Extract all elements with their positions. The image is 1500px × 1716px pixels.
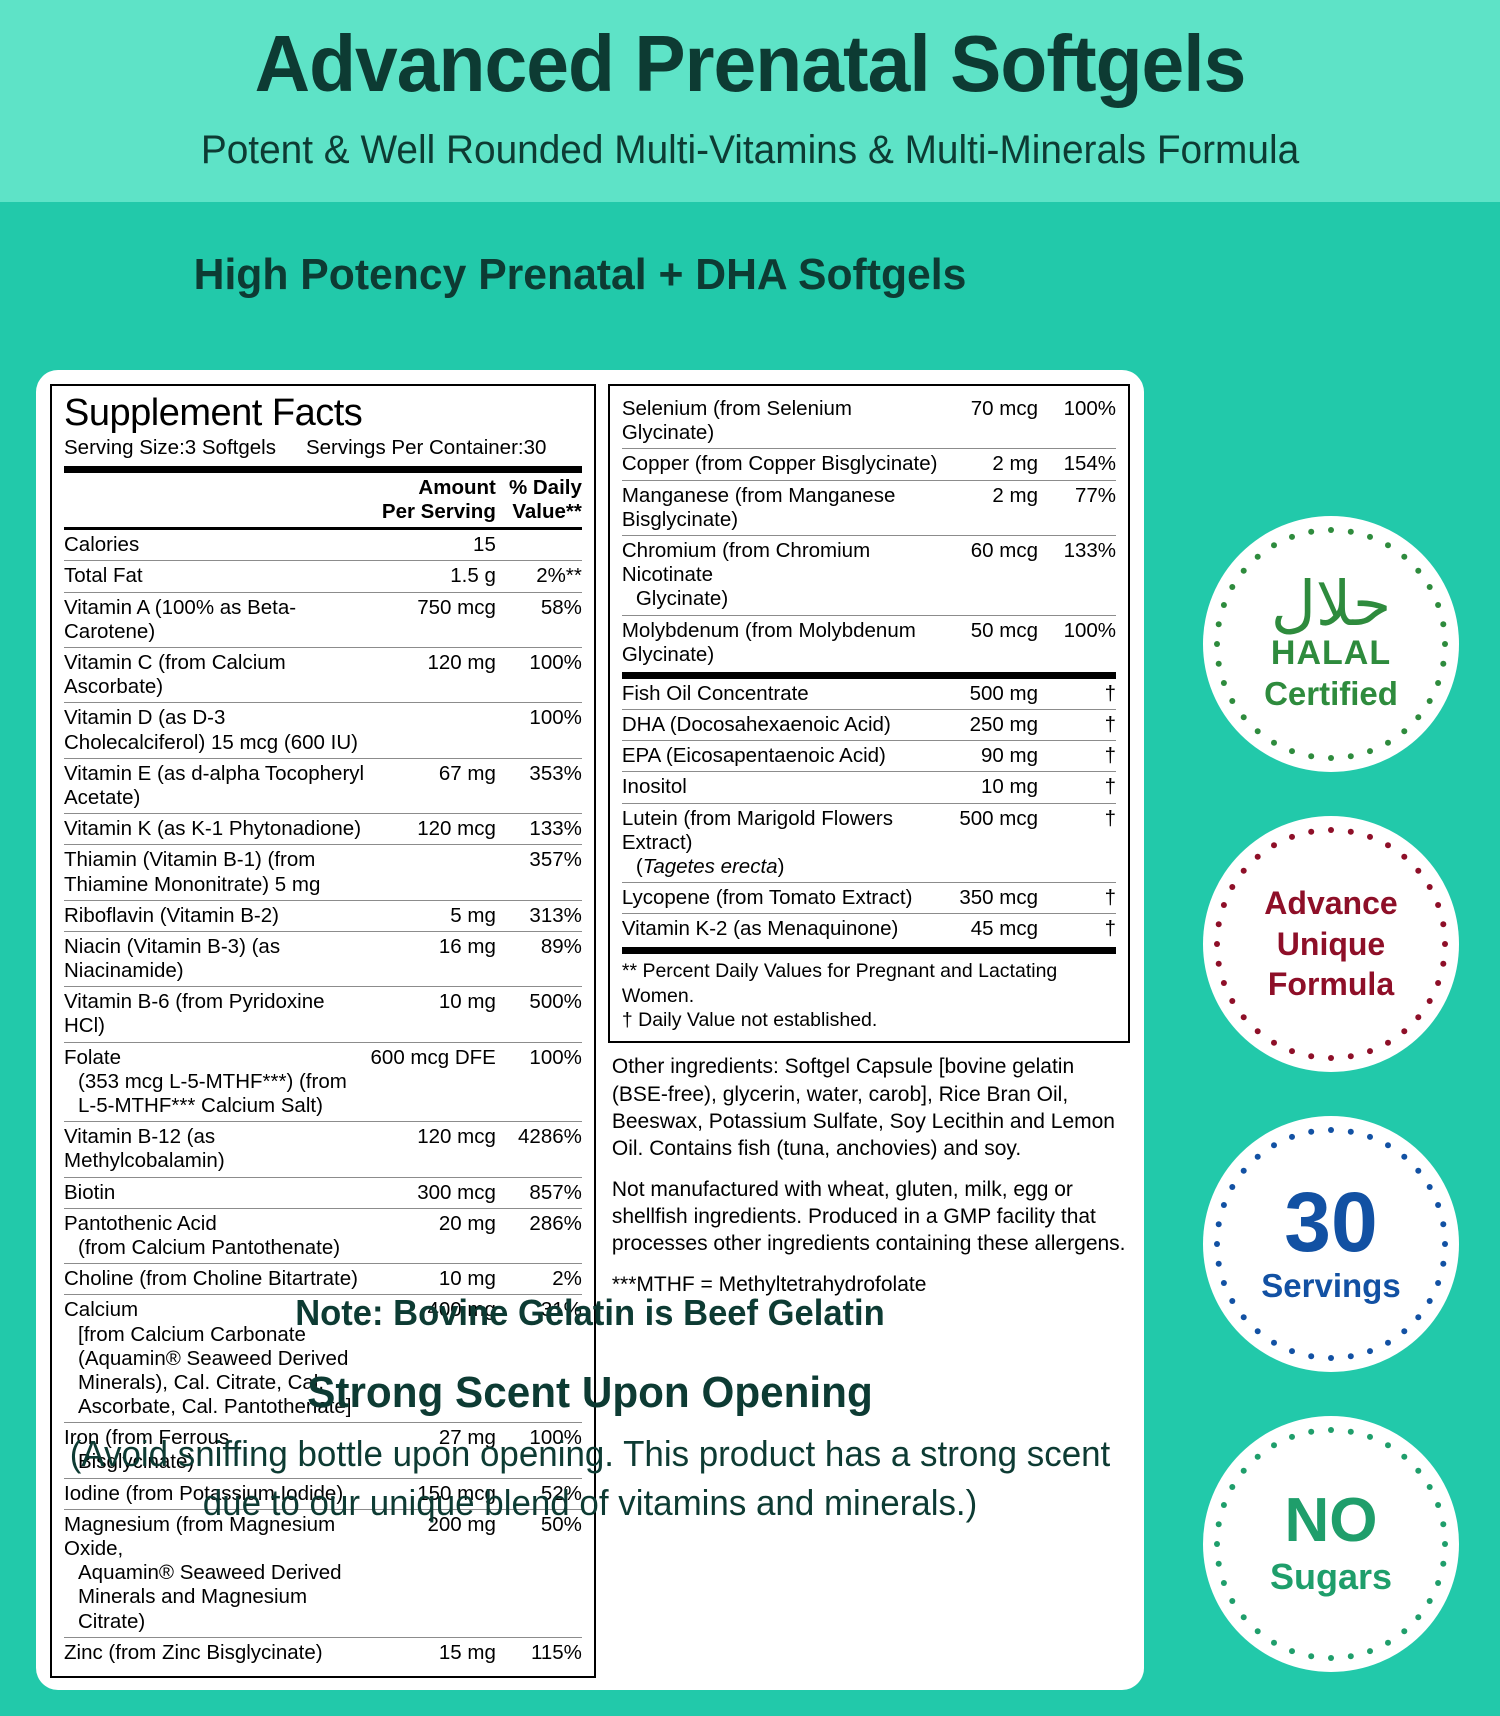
nutrient-name: Total Fat (64, 561, 371, 592)
header-amount-line1: Amount (418, 476, 495, 499)
table-row: Vitamin E (as d-alpha Tocopheryl Acetate… (64, 758, 582, 813)
nutrient-name: Vitamin A (100% as Beta-Carotene) (64, 592, 371, 647)
nutrient-amount: 750 mcg (371, 592, 496, 647)
table-header-row: Amount Per Serving % Daily Value** (64, 473, 582, 527)
nutrient-daily-value: 4286% (496, 1122, 582, 1177)
table-row: Manganese (from Manganese Bisglycinate)2… (622, 480, 1116, 535)
footnote-percent-dv: ** Percent Daily Values for Pregnant and… (622, 959, 1116, 1009)
nutrient-name: Manganese (from Manganese Bisglycinate) (622, 480, 942, 535)
table-row: Vitamin A (100% as Beta-Carotene)750 mcg… (64, 592, 582, 647)
nutrient-daily-value: † (1038, 741, 1116, 772)
other-ingredients-text: Other ingredients: Softgel Capsule [bovi… (612, 1053, 1128, 1162)
nutrient-daily-value: 100% (496, 648, 582, 703)
divider-thick-mid (622, 672, 1116, 679)
nutrient-name: Magnesium (from Magnesium Oxide,Aquamin®… (64, 1509, 371, 1637)
nutrient-amount: 2 mg (942, 480, 1038, 535)
nutrient-daily-value: 100% (496, 1042, 582, 1122)
note-strong-scent-body: (Avoid sniffing bottle upon opening. Thi… (47, 1430, 1133, 1527)
serving-size: Serving Size:3 Softgels (64, 436, 276, 460)
nutrient-name: Choline (from Choline Bitartrate) (64, 1264, 371, 1295)
serving-info: Serving Size:3 Softgels Servings Per Con… (64, 436, 582, 464)
nutrient-amount: 15 mg (371, 1637, 496, 1668)
table-row: Biotin300 mcg857% (64, 1177, 582, 1208)
nutrient-amount: 120 mcg (371, 1122, 496, 1177)
nutrient-amount: 500 mg (942, 679, 1038, 710)
nutrient-daily-value: 154% (1038, 449, 1116, 480)
servings-per-container: Servings Per Container:30 (306, 436, 546, 460)
nutrient-name: Lutein (from Marigold Flowers Extract)(T… (622, 803, 942, 883)
nutrient-daily-value: † (1038, 883, 1116, 914)
nutrient-amount: 15 (371, 530, 496, 561)
nutrient-daily-value: 313% (496, 900, 582, 931)
table-row: Vitamin B-6 (from Pyridoxine HCl)10 mg50… (64, 987, 582, 1042)
table-row: Riboflavin (Vitamin B-2)5 mg313% (64, 900, 582, 931)
left-facts-table: Amount Per Serving % Daily Value** (64, 473, 582, 527)
nutrient-name-cont: (Tagetes erecta) (622, 855, 942, 879)
page-subtitle: Potent & Well Rounded Multi-Vitamins & M… (61, 128, 1438, 172)
badge-halal-certified: حلال HALAL Certified (1203, 516, 1459, 772)
table-row: Vitamin D (as D-3 Cholecalciferol) 15 mc… (64, 703, 582, 758)
header-amount-per-serving: Amount Per Serving (64, 473, 496, 527)
table-row: DHA (Docosahexaenoic Acid)250 mg† (622, 710, 1116, 741)
nutrient-amount: 10 mg (371, 987, 496, 1042)
nutrient-name-cont: (from Calcium Pantothenate) (64, 1236, 371, 1260)
nutrient-amount: 70 mcg (942, 394, 1038, 449)
nutrient-amount: 45 mcg (942, 914, 1038, 945)
nutrient-name: Vitamin D (as D-3 Cholecalciferol) 15 mc… (64, 703, 371, 758)
nutrient-name: Calories (64, 530, 371, 561)
nutrient-name: Copper (from Copper Bisglycinate) (622, 449, 942, 480)
nutrient-amount: 250 mg (942, 710, 1038, 741)
nutrient-name: Pantothenic Acid(from Calcium Pantothena… (64, 1208, 371, 1263)
nutrient-daily-value: 286% (496, 1208, 582, 1263)
minerals-panel: Selenium (from Selenium Glycinate)70 mcg… (608, 384, 1130, 1043)
page-title: Advanced Prenatal Softgels (68, 22, 1431, 106)
note-bovine-gelatin: Note: Bovine Gelatin is Beef Gelatin (52, 1292, 1127, 1334)
nutrient-daily-value: 77% (1038, 480, 1116, 535)
other-ingredients-block: Other ingredients: Softgel Capsule [bovi… (608, 1043, 1130, 1297)
table-row: Calories15 (64, 530, 582, 561)
table-row: Lycopene (from Tomato Extract)350 mcg† (622, 883, 1116, 914)
nutrient-name-cont: Glycinate) (622, 587, 942, 611)
allergen-statement: Not manufactured with wheat, gluten, mil… (612, 1176, 1128, 1258)
table-row: Magnesium (from Magnesium Oxide,Aquamin®… (64, 1509, 582, 1637)
table-row: Thiamin (Vitamin B-1) (from Thiamine Mon… (64, 845, 582, 900)
advance-line1: Advance (1264, 883, 1397, 924)
nutrient-amount: 20 mg (371, 1208, 496, 1263)
nutrient-name: Vitamin K (as K-1 Phytonadione) (64, 814, 371, 845)
right-others-table: Fish Oil Concentrate500 mg†DHA (Docosahe… (622, 679, 1116, 945)
nutrient-name: Zinc (from Zinc Bisglycinate) (64, 1637, 371, 1668)
table-row: Pantothenic Acid(from Calcium Pantothena… (64, 1208, 582, 1263)
table-row: Copper (from Copper Bisglycinate)2 mg154… (622, 449, 1116, 480)
footnotes: ** Percent Daily Values for Pregnant and… (622, 954, 1116, 1034)
header-daily-value: % Daily Value** (496, 473, 582, 527)
nutrient-daily-value: † (1038, 710, 1116, 741)
nutrient-daily-value: 857% (496, 1177, 582, 1208)
footnote-dagger: † Daily Value not established. (622, 1008, 1116, 1033)
nutrient-daily-value: † (1038, 679, 1116, 710)
badge-no-sugars: NO Sugars (1203, 1416, 1459, 1672)
table-row: Total Fat1.5 g2%** (64, 561, 582, 592)
header-amount-line2: Per Serving (382, 500, 496, 523)
nutrient-amount: 350 mcg (942, 883, 1038, 914)
nutrient-name: Selenium (from Selenium Glycinate) (622, 394, 942, 449)
nutrient-amount: 10 mg (371, 1264, 496, 1295)
nutrient-daily-value: 133% (496, 814, 582, 845)
nutrient-name: Chromium (from Chromium NicotinateGlycin… (622, 535, 942, 615)
nutrient-name: Inositol (622, 772, 942, 803)
table-row: EPA (Eicosapentaenoic Acid)90 mg† (622, 741, 1116, 772)
table-row: Niacin (Vitamin B-3) (as Niacinamide)16 … (64, 931, 582, 986)
supplement-facts-title: Supplement Facts (64, 394, 582, 434)
header-dv-line2: Value** (512, 500, 582, 523)
main-content: High Potency Prenatal + DHA Softgels Sup… (0, 202, 1500, 1449)
nutrient-amount: 1.5 g (371, 561, 496, 592)
nutrient-amount: 60 mcg (942, 535, 1038, 615)
nutrient-daily-value: 58% (496, 592, 582, 647)
nutrient-name-cont: (353 mcg L-5-MTHF***) (from L-5-MTHF*** … (64, 1070, 371, 1118)
nutrient-daily-value: 100% (496, 703, 582, 758)
table-row: Vitamin C (from Calcium Ascorbate)120 mg… (64, 648, 582, 703)
nutrient-name: Biotin (64, 1177, 371, 1208)
halal-label-line2: Certified (1264, 675, 1398, 713)
table-row: Vitamin K (as K-1 Phytonadione)120 mcg13… (64, 814, 582, 845)
advance-line2: Unique (1277, 924, 1385, 965)
table-row: Molybdenum (from Molybdenum Glycinate)50… (622, 615, 1116, 670)
no-sugars-line2: Sugars (1270, 1556, 1392, 1598)
note-strong-scent-title: Strong Scent Upon Opening (52, 1368, 1127, 1418)
servings-label: Servings (1261, 1267, 1400, 1305)
badge-advance-unique-formula: Advance Unique Formula (1203, 816, 1459, 1072)
nutrient-name: Thiamin (Vitamin B-1) (from Thiamine Mon… (64, 845, 371, 900)
nutrient-name: Molybdenum (from Molybdenum Glycinate) (622, 615, 942, 670)
nutrient-daily-value: 357% (496, 845, 582, 900)
table-row: Fish Oil Concentrate500 mg† (622, 679, 1116, 710)
nutrient-daily-value: 100% (1038, 615, 1116, 670)
table-row: Zinc (from Zinc Bisglycinate)15 mg115% (64, 1637, 582, 1668)
table-row: Vitamin K-2 (as Menaquinone)45 mcg† (622, 914, 1116, 945)
divider-thick-bottom (622, 947, 1116, 954)
nutrient-name: Vitamin K-2 (as Menaquinone) (622, 914, 942, 945)
nutrient-amount: 90 mg (942, 741, 1038, 772)
nutrient-daily-value: 2% (496, 1264, 582, 1295)
nutrient-daily-value: † (1038, 914, 1116, 945)
nutrient-name: Folate(353 mcg L-5-MTHF***) (from L-5-MT… (64, 1042, 371, 1122)
nutrient-amount (371, 703, 496, 758)
nutrient-name: EPA (Eicosapentaenoic Acid) (622, 741, 942, 772)
nutrient-name: DHA (Docosahexaenoic Acid) (622, 710, 942, 741)
nutrient-amount: 120 mcg (371, 814, 496, 845)
header-band: Advanced Prenatal Softgels Potent & Well… (0, 0, 1500, 202)
nutrient-name: Lycopene (from Tomato Extract) (622, 883, 942, 914)
servings-number: 30 (1284, 1183, 1377, 1263)
nutrient-amount: 10 mg (942, 772, 1038, 803)
nutrient-name: Vitamin C (from Calcium Ascorbate) (64, 648, 371, 703)
nutrient-name: Vitamin B-6 (from Pyridoxine HCl) (64, 987, 371, 1042)
nutrient-amount: 300 mcg (371, 1177, 496, 1208)
nutrient-name: Vitamin B-12 (as Methylcobalamin) (64, 1122, 371, 1177)
nutrient-daily-value: 115% (496, 1637, 582, 1668)
nutrient-amount: 600 mcg DFE (371, 1042, 496, 1122)
nutrient-amount: 67 mg (371, 758, 496, 813)
table-row: Vitamin B-12 (as Methylcobalamin)120 mcg… (64, 1122, 582, 1177)
nutrient-amount: 500 mcg (942, 803, 1038, 883)
halal-arabic-icon: حلال (1271, 575, 1391, 634)
nutrient-daily-value (496, 530, 582, 561)
table-row: Selenium (from Selenium Glycinate)70 mcg… (622, 394, 1116, 449)
nutrient-daily-value: 2%** (496, 561, 582, 592)
nutrient-daily-value: 133% (1038, 535, 1116, 615)
nutrient-daily-value: 353% (496, 758, 582, 813)
advance-line3: Formula (1268, 964, 1394, 1005)
badge-column: حلال HALAL Certified Advance Unique Form… (1186, 202, 1476, 1716)
nutrient-amount: 5 mg (371, 900, 496, 931)
nutrient-amount (371, 845, 496, 900)
no-sugars-line1: NO (1285, 1490, 1378, 1552)
nutrient-amount: 2 mg (942, 449, 1038, 480)
nutrient-name: Fish Oil Concentrate (622, 679, 942, 710)
nutrient-name: Niacin (Vitamin B-3) (as Niacinamide) (64, 931, 371, 986)
nutrient-daily-value: † (1038, 772, 1116, 803)
bottom-notes: Note: Bovine Gelatin is Beef Gelatin Str… (30, 1292, 1150, 1527)
table-row: Inositol10 mg† (622, 772, 1116, 803)
table-row: Chromium (from Chromium NicotinateGlycin… (622, 535, 1116, 615)
divider-thick-top (64, 466, 582, 473)
nutrient-daily-value: 500% (496, 987, 582, 1042)
nutrient-daily-value: 89% (496, 931, 582, 986)
header-dv-line1: % Daily (509, 476, 582, 499)
section-heading: High Potency Prenatal + DHA Softgels (17, 202, 1142, 300)
nutrient-amount: 120 mg (371, 648, 496, 703)
nutrient-daily-value: † (1038, 803, 1116, 883)
table-row: Choline (from Choline Bitartrate)10 mg2% (64, 1264, 582, 1295)
right-minerals-table: Selenium (from Selenium Glycinate)70 mcg… (622, 394, 1116, 670)
nutrient-name: Riboflavin (Vitamin B-2) (64, 900, 371, 931)
nutrient-amount: 50 mcg (942, 615, 1038, 670)
nutrient-amount: 16 mg (371, 931, 496, 986)
nutrient-name-cont: Aquamin® Seaweed Derived Minerals and Ma… (64, 1561, 371, 1634)
badge-servings-count: 30 Servings (1203, 1116, 1459, 1372)
table-row: Lutein (from Marigold Flowers Extract)(T… (622, 803, 1116, 883)
nutrient-amount: 200 mg (371, 1509, 496, 1637)
halal-label-line1: HALAL (1271, 634, 1391, 673)
table-row: Folate(353 mcg L-5-MTHF***) (from L-5-MT… (64, 1042, 582, 1122)
nutrient-daily-value: 50% (496, 1509, 582, 1637)
nutrient-name: Vitamin E (as d-alpha Tocopheryl Acetate… (64, 758, 371, 813)
nutrient-daily-value: 100% (1038, 394, 1116, 449)
